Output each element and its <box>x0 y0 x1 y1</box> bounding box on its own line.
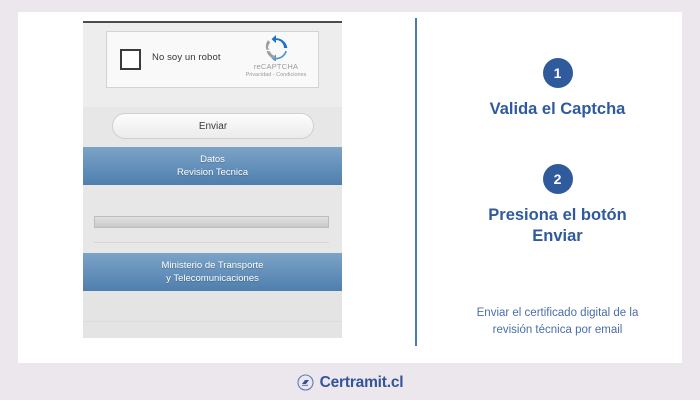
note-line1: Enviar el certificado digital de la <box>433 305 682 322</box>
banner-ministerio-line1: Ministerio de Transporte <box>162 259 264 273</box>
recaptcha-label: No soy un robot <box>152 52 221 63</box>
screenshot-middle-area <box>83 185 342 253</box>
step-2-number-badge: 2 <box>543 164 573 194</box>
recaptcha-brand-name: reCAPTCHA <box>239 62 313 71</box>
recaptcha-legal-links[interactable]: Privacidad - Condiciones <box>239 71 313 79</box>
checkbox-unchecked-icon[interactable] <box>120 49 141 70</box>
recaptcha-branding: reCAPTCHA Privacidad - Condiciones <box>239 35 313 79</box>
vertical-divider <box>415 18 417 346</box>
screenshot-bottom-area <box>83 291 342 338</box>
phone-screenshot: No soy un robot reCAPTCHA Privacidad - C… <box>83 21 342 338</box>
content-card: No soy un robot reCAPTCHA Privacidad - C… <box>18 12 682 363</box>
screenshot-divider-rule <box>94 242 329 243</box>
recaptcha-widget[interactable]: No soy un robot reCAPTCHA Privacidad - C… <box>106 31 319 88</box>
screenshot-top-area: No soy un robot reCAPTCHA Privacidad - C… <box>83 23 342 107</box>
page-root: No soy un robot reCAPTCHA Privacidad - C… <box>0 0 700 400</box>
banner-datos-revision-tecnica: Datos Revision Tecnica <box>83 147 342 185</box>
step-2-line1: Presiona el botón <box>433 205 682 226</box>
recaptcha-icon <box>263 35 289 61</box>
certramit-circle-icon <box>297 374 314 391</box>
step-1: 1 Valida el Captcha <box>433 58 682 120</box>
step-2-line2: Enviar <box>433 226 682 247</box>
step-2-text: Presiona el botón Enviar <box>433 205 682 247</box>
enviar-button[interactable]: Enviar <box>112 113 314 139</box>
footer-brand: Certramit.cl <box>0 365 700 400</box>
screenshot-input-field[interactable] <box>94 216 329 228</box>
steps-panel: 1 Valida el Captcha 2 Presiona el botón … <box>433 12 682 363</box>
step-1-number-badge: 1 <box>543 58 573 88</box>
note-text: Enviar el certificado digital de la revi… <box>433 305 682 339</box>
banner-ministerio-transporte: Ministerio de Transporte y Telecomunicac… <box>83 253 342 291</box>
step-1-text: Valida el Captcha <box>433 99 682 120</box>
footer-brand-name: Certramit.cl <box>320 374 404 392</box>
screenshot-bottom-rule <box>83 321 342 322</box>
banner-datos-line2: Revision Tecnica <box>177 166 248 180</box>
note-line2: revisión técnica por email <box>433 322 682 339</box>
banner-datos-line1: Datos <box>200 153 225 167</box>
step-2: 2 Presiona el botón Enviar <box>433 164 682 247</box>
banner-ministerio-line2: y Telecomunicaciones <box>166 272 259 286</box>
